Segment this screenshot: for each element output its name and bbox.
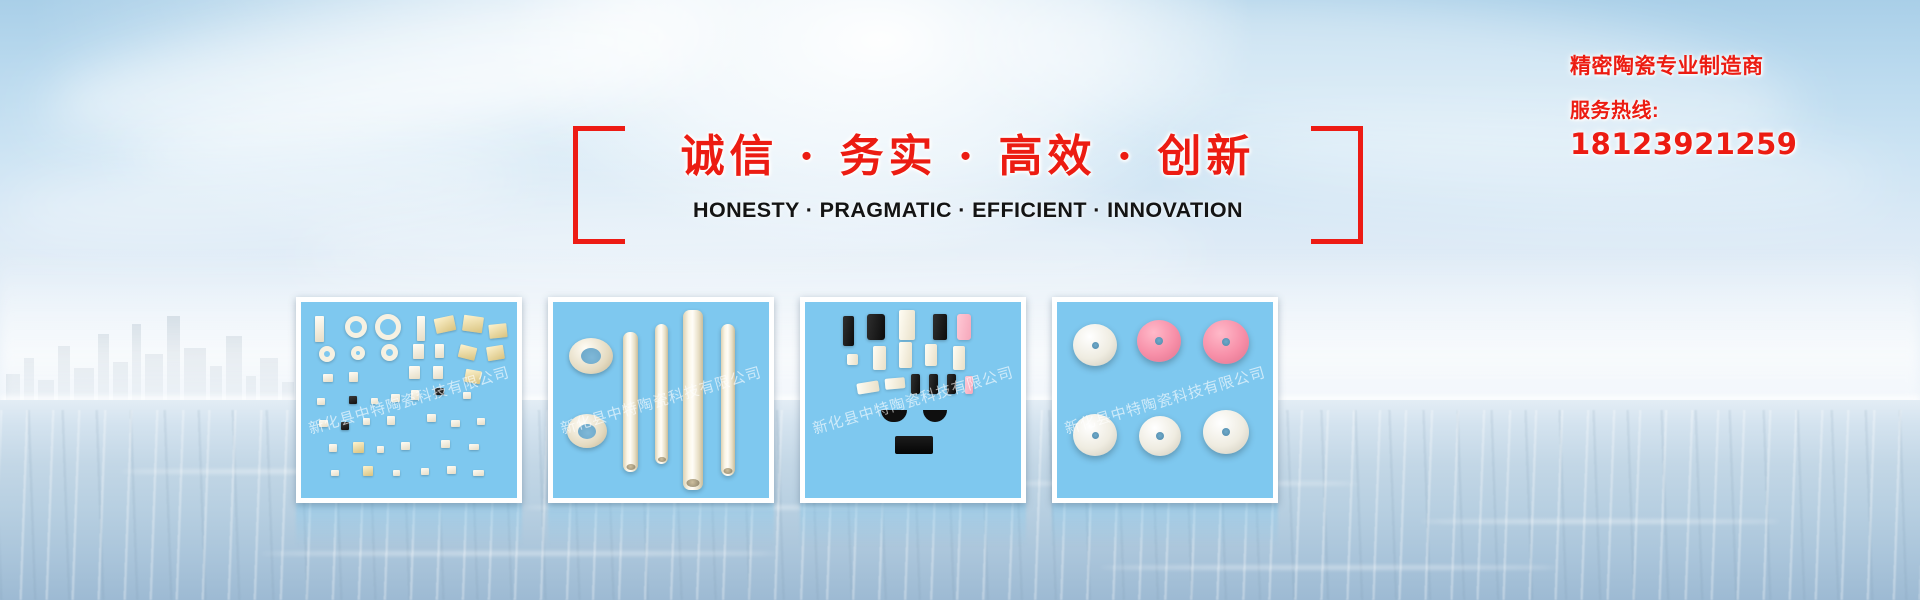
card-reflection: [296, 503, 522, 555]
slogan-chinese: 诚信 · 务实 · 高效 · 创新: [625, 124, 1311, 190]
contact-block: 精密陶瓷专业制造商 服务热线: 18123921259: [1570, 52, 1910, 162]
product-card-row: 新化县中特陶瓷科技有限公司: [296, 297, 1276, 507]
product-card-4[interactable]: 新化县中特陶瓷科技有限公司: [1052, 297, 1278, 503]
slogan-english: HONESTY · PRAGMATIC · EFFICIENT · INNOVA…: [625, 198, 1311, 223]
hero-banner: 诚信 · 务实 · 高效 · 创新 HONESTY · PRAGMATIC · …: [0, 0, 1920, 600]
slogan-block: 诚信 · 务实 · 高效 · 创新 HONESTY · PRAGMATIC · …: [573, 126, 1363, 244]
image-watermark: 新化县中特陶瓷科技有限公司: [810, 361, 1016, 439]
product-card-1[interactable]: 新化县中特陶瓷科技有限公司: [296, 297, 522, 503]
product-image-2: 新化县中特陶瓷科技有限公司: [553, 302, 769, 498]
card-reflection: [1052, 503, 1278, 555]
card-reflection: [800, 503, 1026, 555]
product-image-3: 新化县中特陶瓷科技有限公司: [805, 302, 1021, 498]
product-image-4: 新化县中特陶瓷科技有限公司: [1057, 302, 1273, 498]
bracket-right-icon: [1311, 126, 1363, 244]
company-tagline: 精密陶瓷专业制造商: [1570, 52, 1910, 82]
product-image-1: 新化县中特陶瓷科技有限公司: [301, 302, 517, 498]
hotline-number[interactable]: 18123921259: [1570, 126, 1910, 162]
product-card-2[interactable]: 新化县中特陶瓷科技有限公司: [548, 297, 774, 503]
hotline-label: 服务热线:: [1570, 96, 1910, 126]
bracket-left-icon: [573, 126, 625, 244]
product-card-3[interactable]: 新化县中特陶瓷科技有限公司: [800, 297, 1026, 503]
card-reflection: [548, 503, 774, 555]
